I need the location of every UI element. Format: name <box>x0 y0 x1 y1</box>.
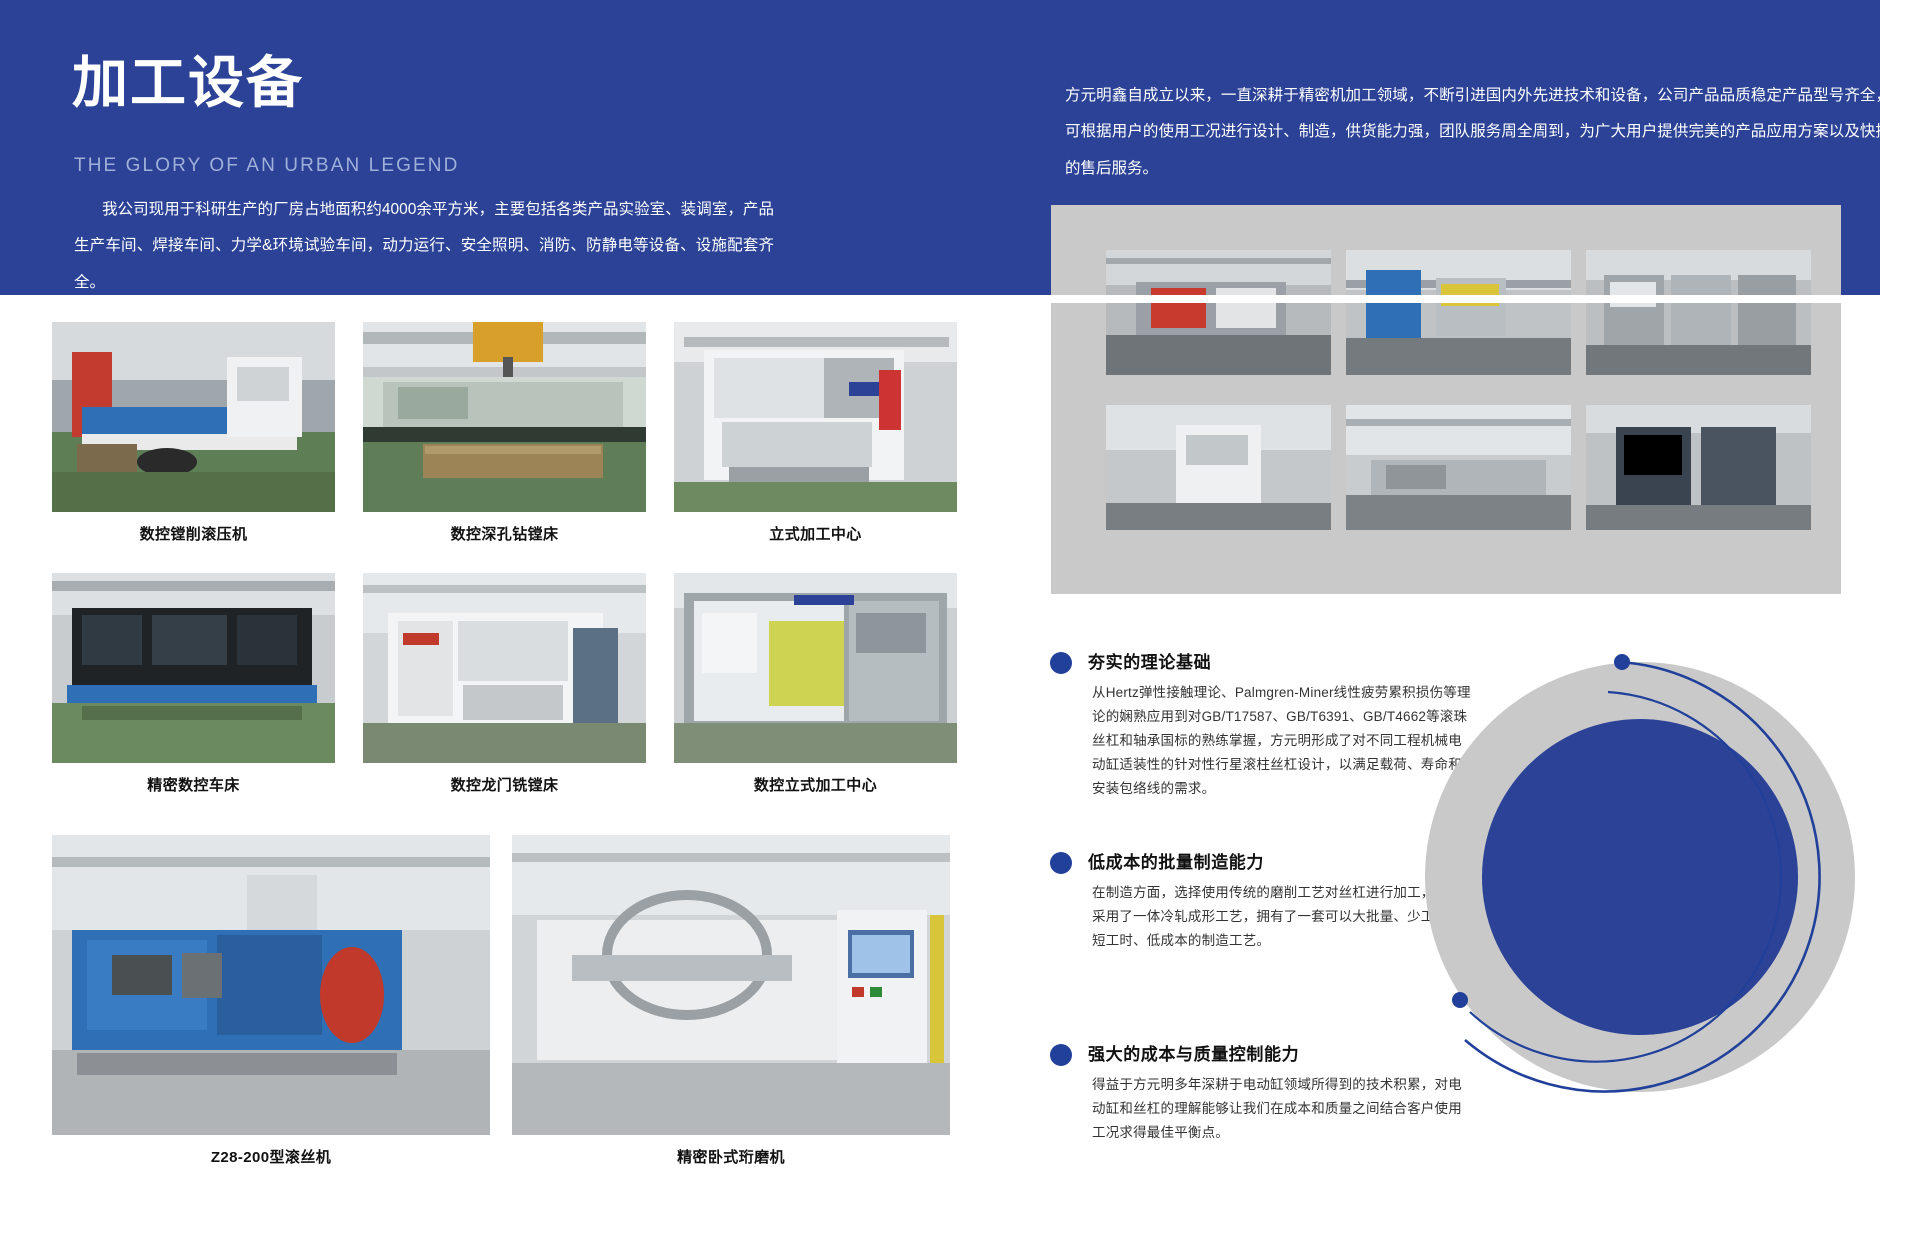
equipment-caption-3: 精密数控车床 <box>52 774 335 795</box>
equipment-photo-3[interactable] <box>52 573 335 763</box>
gallery-cell-0[interactable] <box>1106 250 1331 375</box>
precision-horizontal-honing-machine-image <box>512 835 950 1135</box>
concentric-circles-svg <box>1360 640 1900 1160</box>
vertical-machining-center-image <box>674 322 957 512</box>
equipment-caption-7: 精密卧式珩磨机 <box>512 1146 950 1167</box>
equipment-photo-0[interactable] <box>52 322 335 512</box>
header-left-paragraph: 我公司现用于科研生产的厂房占地面积约4000余平方米，主要包括各类产品实验室、装… <box>74 192 774 301</box>
equipment-photo-grid: 数控镗削滚压机 数控深孔钻镗床 <box>0 295 1035 1243</box>
precision-cnc-lathe-image <box>52 573 335 763</box>
gallery-cell-5[interactable] <box>1586 405 1811 530</box>
page-title: 加工设备 <box>72 55 304 111</box>
equipment-photo-4[interactable] <box>363 573 646 763</box>
equipment-photo-5[interactable] <box>674 573 957 763</box>
gallery-cell-1[interactable] <box>1346 250 1571 375</box>
workshop-environment-chamber-image <box>1586 405 1811 530</box>
cnc-boring-roller-machine-image <box>52 322 335 512</box>
equipment-caption-4: 数控龙门铣镗床 <box>363 774 646 795</box>
z28-200-thread-rolling-machine-image <box>52 835 490 1135</box>
arc-endpoint-dot-left <box>1452 992 1468 1008</box>
equipment-caption-1: 数控深孔钻镗床 <box>363 523 646 544</box>
page-subtitle: THE GLORY OF AN URBAN LEGEND <box>74 155 459 177</box>
gallery-panel <box>1051 205 1841 594</box>
workshop-assembly-line-image <box>1346 405 1571 530</box>
workshop-testing-machine-image <box>1106 405 1331 530</box>
header-right-white-edge <box>1880 0 1920 295</box>
equipment-photo-6[interactable] <box>52 835 490 1135</box>
equipment-caption-5: 数控立式加工中心 <box>674 774 957 795</box>
workshop-robot-welding-image <box>1346 250 1571 375</box>
workshop-cnc-lathe-1-image <box>1106 250 1331 375</box>
equipment-photo-1[interactable] <box>363 322 646 512</box>
bullet-dot-icon <box>1050 1044 1072 1066</box>
equipment-caption-6: Z28-200型滚丝机 <box>52 1146 490 1167</box>
header-right-paragraph: 方元明鑫自成立以来，一直深耕于精密机加工领域，不断引进国内外先进技术和设备，公司… <box>1065 78 1891 187</box>
poster-page: 加工设备 THE GLORY OF AN URBAN LEGEND 我公司现用于… <box>0 0 1920 1243</box>
gallery-cell-4[interactable] <box>1346 405 1571 530</box>
bullet-dot-icon <box>1050 852 1072 874</box>
header-bottom-edge <box>1035 295 1920 303</box>
inner-blue-circle <box>1482 719 1798 1035</box>
gallery-cell-2[interactable] <box>1586 250 1811 375</box>
cnc-deep-hole-drilling-boring-machine-image <box>363 322 646 512</box>
workshop-control-cabinets-image <box>1586 250 1811 375</box>
equipment-photo-7[interactable] <box>512 835 950 1135</box>
cnc-gantry-milling-boring-machine-image <box>363 573 646 763</box>
feature-title-0: 夯实的理论基础 <box>1088 648 1211 673</box>
equipment-caption-2: 立式加工中心 <box>674 523 957 544</box>
arc-endpoint-dot-top <box>1614 654 1630 670</box>
bullet-dot-icon <box>1050 652 1072 674</box>
cnc-vertical-machining-center-image <box>674 573 957 763</box>
feature-title-1: 低成本的批量制造能力 <box>1088 848 1264 873</box>
gallery-cell-3[interactable] <box>1106 405 1331 530</box>
equipment-caption-0: 数控镗削滚压机 <box>52 523 335 544</box>
equipment-photo-2[interactable] <box>674 322 957 512</box>
feature-title-2: 强大的成本与质量控制能力 <box>1088 1040 1299 1065</box>
concentric-circles-graphic <box>1360 640 1900 1160</box>
